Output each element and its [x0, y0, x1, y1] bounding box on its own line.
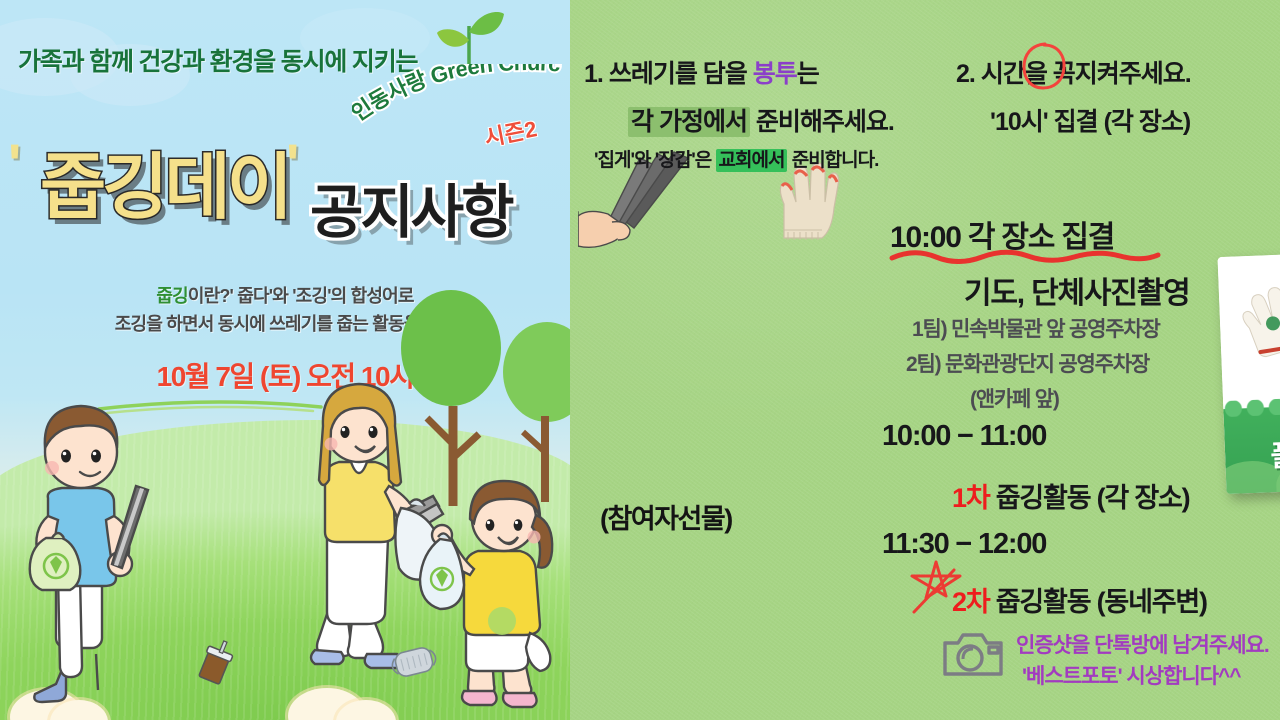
camera-icon [942, 629, 1004, 677]
notice-1-line-2: 각 가정에서 준비해주세요. [628, 102, 894, 138]
definition-highlight: 줍깅 [156, 286, 188, 306]
star-doodle-icon [906, 560, 968, 616]
red-squiggle-underline [888, 248, 1163, 264]
poster-title: 줍깅데이 [40, 128, 289, 233]
notice-2-line-1: 2. 시간을 꼭지켜주세요. [956, 54, 1191, 90]
notice-1-line-3-pre: '집게'와 '장갑'은 [594, 150, 711, 171]
litter-mask-icon [388, 644, 440, 680]
glove-icon [770, 160, 840, 242]
notice-2-number: 2. [956, 60, 975, 88]
definition-line-1-rest: 이란?' 줍다'와 '조깅'의 합성어로 [188, 286, 414, 306]
product-card-wrapper: eco 쓰담 쓰담 플로깅세트 [1180, 165, 1280, 455]
quote-close: ' [286, 136, 299, 192]
schedule-team-1: 1팀) 민속박물관 앞 공영주차장 [912, 313, 1160, 343]
notice-1-line-3-post: 준비합니다. [792, 150, 879, 171]
notice-1-text-pre: 쓰레기를 담을 [609, 60, 747, 88]
litter-cup-icon [195, 640, 239, 686]
schedule-slot-1-activity: 1차 줍깅활동 (각 장소) [952, 476, 1189, 515]
slot-2-label: 줍깅활동 (동네주변) [996, 587, 1207, 617]
schedule-team-2: 2팀) 문화관광단지 공영주차장 [906, 348, 1149, 378]
poster-canvas: 가족과 함께 건강과 환경을 동시에 지키는 인동사랑 Green Church… [0, 0, 1280, 720]
product-main-text: 플로깅세트 [1224, 427, 1280, 477]
left-poster: 가족과 함께 건강과 환경을 동시에 지키는 인동사랑 Green Church… [0, 0, 570, 720]
illustration-girl [418, 475, 568, 715]
footer-note-line-2: '베스트포토' 시상합니다^^ [1022, 660, 1241, 690]
quote-open: ' [8, 136, 21, 192]
schedule-team-2-note: (앤카페 앞) [970, 383, 1059, 413]
red-circle-annotation [1021, 41, 1067, 91]
schedule-gather-activity: 기도, 단체사진촬영 [964, 268, 1189, 312]
slot-1-number: 1차 [952, 483, 989, 513]
schedule-slot-1-time: 10:00 − 11:00 [882, 420, 1046, 453]
notice-2-text-post: 지켜주세요. [1075, 60, 1191, 88]
right-info-panel: 1. 쓰레기를 담을 봉투는 각 가정에서 준비해주세요. '집게'와 '장갑'… [570, 0, 1280, 720]
product-label-band: 쓰담 쓰담 플로깅세트 [1223, 401, 1280, 494]
product-photo [1218, 249, 1280, 409]
title-block: ' 줍깅데이 ' 공지사항 [0, 120, 570, 235]
notice-1-text-post: 는 [797, 60, 819, 88]
slot-1-label: 줍깅활동 (각 장소) [996, 483, 1190, 513]
poster-subtitle: 공지사항 [310, 165, 511, 249]
notice-2-line-2: '10시' 집결 (각 장소) [990, 102, 1190, 138]
notice-1-highlight: 각 가정에서 [628, 107, 750, 137]
notice-1-number: 1. [584, 60, 603, 88]
brand-arc-text: 인동사랑 Green Church [352, 64, 570, 126]
notice-1-line-3-highlight: 교회에서 [716, 149, 788, 172]
notice-1-emphasis: 봉투 [753, 60, 797, 88]
notice-1-line-3: '집게'와 '장갑'은 교회에서 준비합니다. [594, 145, 878, 172]
footer-note-line-1: 인증샷을 단톡방에 남겨주세요. [1016, 629, 1269, 659]
plogging-set-card: eco 쓰담 쓰담 플로깅세트 [1218, 249, 1280, 494]
notice-1-line-1: 1. 쓰레기를 담을 봉투는 [584, 54, 819, 90]
gift-caption: (참여자선물) [600, 497, 732, 536]
notice-1-line-2-post: 준비해주세요. [756, 108, 894, 136]
product-photo-illustration [1218, 249, 1280, 409]
illustration-boy [18, 378, 188, 708]
schedule-slot-2-time: 11:30 − 12:00 [882, 528, 1046, 561]
schedule-slot-2-activity: 2차 줍깅활동 (동네주변) [952, 580, 1207, 619]
